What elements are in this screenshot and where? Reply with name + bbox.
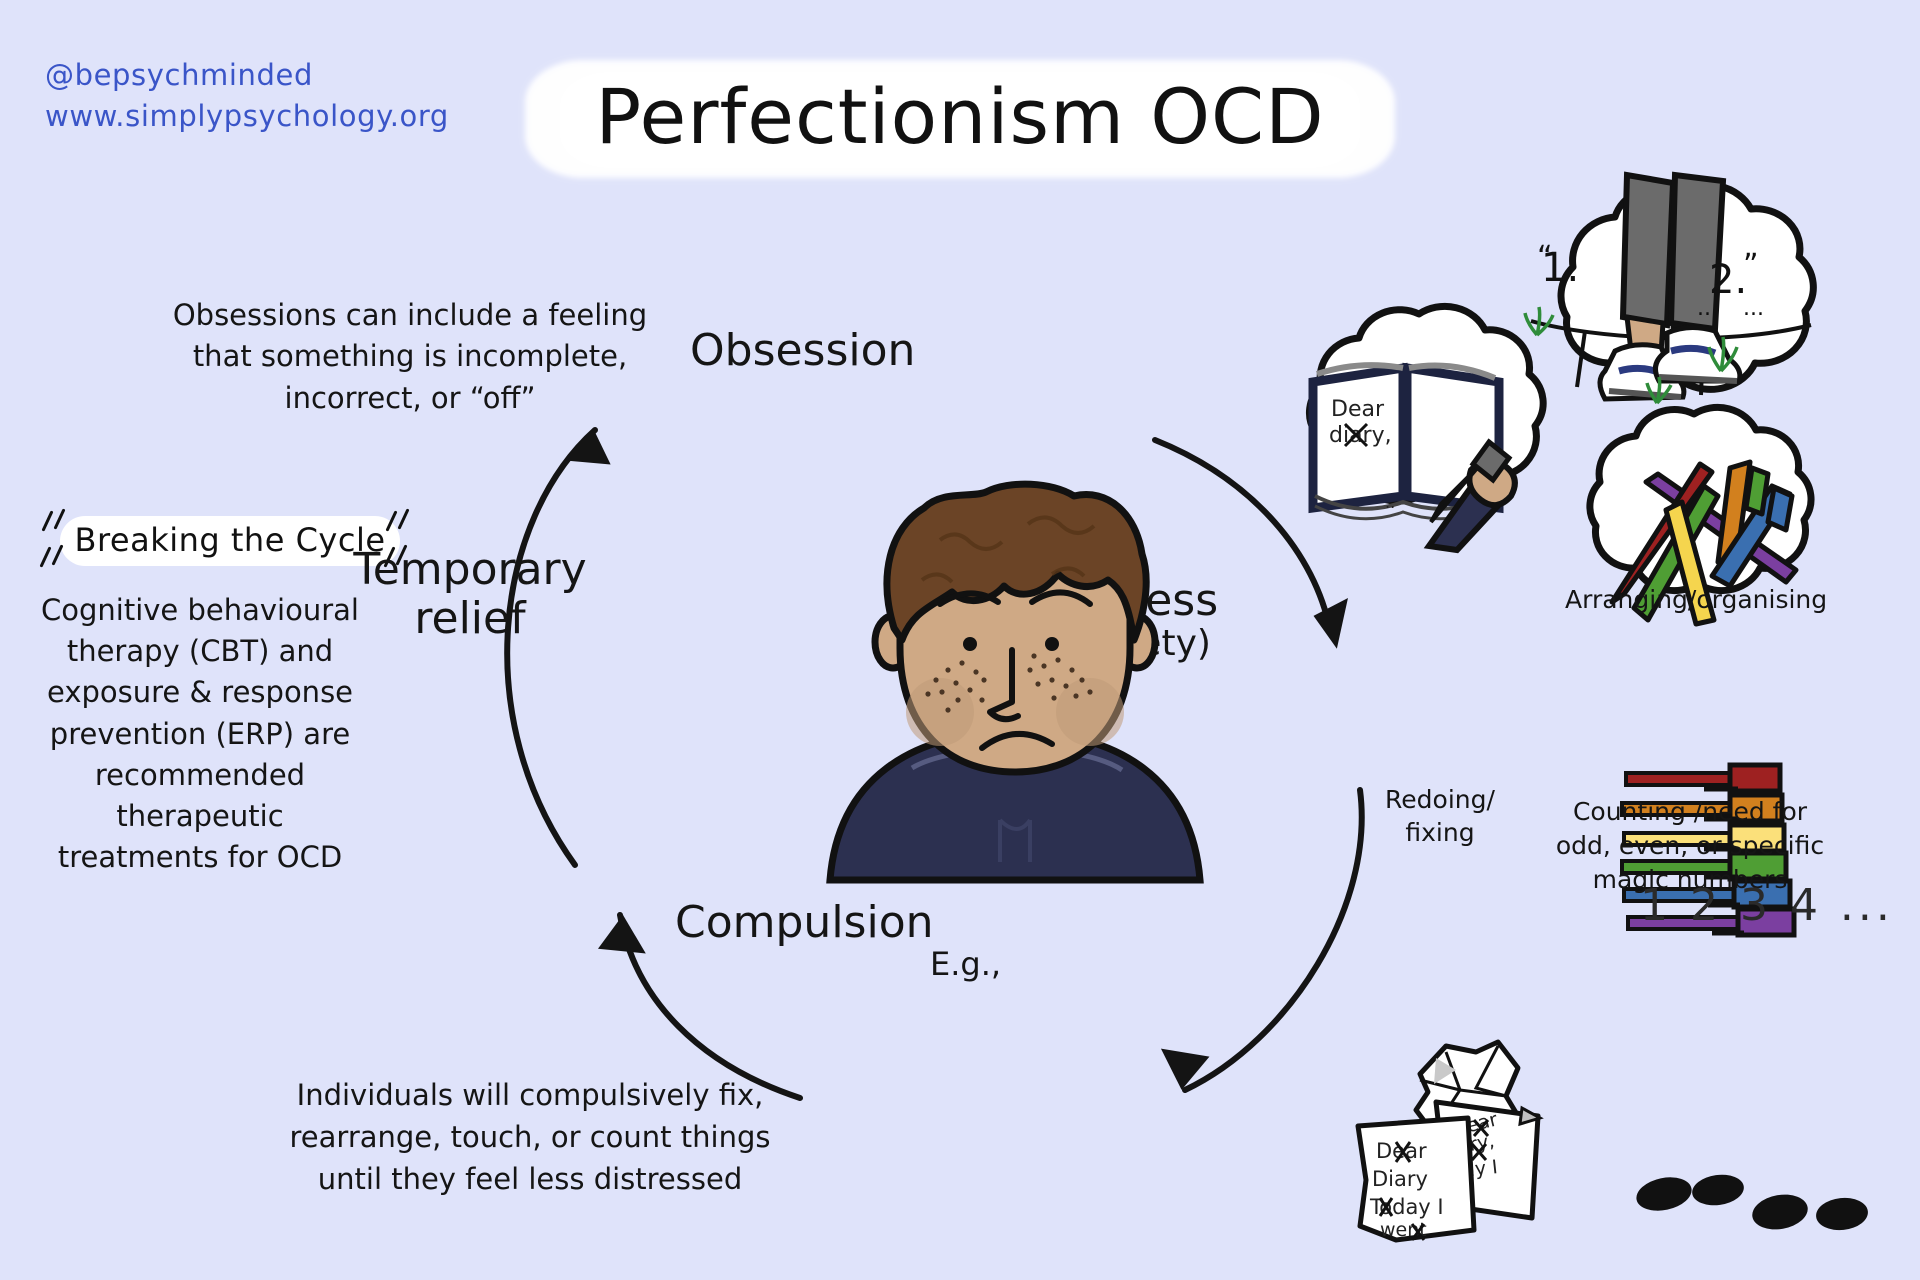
infographic-canvas: @bepsychminded www.simplypsychology.org … (0, 0, 1920, 1280)
quote-open: “ (1537, 240, 1553, 275)
crumpled-paper-illustration: Dear diary, Today I Dear Diary Today I w… (1350, 1040, 1570, 1260)
diary-line-2: diary, (1329, 423, 1392, 448)
ellipsis-left: ... (1697, 296, 1718, 321)
label-redoing-fixing: Redoing/ fixing (1370, 783, 1510, 849)
arrowhead-relief (598, 912, 651, 955)
trouser-left (1623, 175, 1673, 325)
quote-close: ” (1743, 248, 1759, 283)
footprints-illustration (1630, 1150, 1880, 1250)
cycle-label-obsession: Obsession (690, 325, 915, 376)
cycle-label-temporary-relief: Temporary relief (345, 545, 595, 644)
arrowhead-compulsion (1152, 1045, 1209, 1095)
front-line-2: Diary (1372, 1167, 1428, 1191)
counting-digits: 1 2 3 4 ... (1640, 880, 1894, 931)
ellipsis-right: ... (1743, 296, 1764, 321)
thought-bubble-diary: Dear diary, .. (1275, 290, 1565, 550)
eye-right (1045, 637, 1059, 651)
label-arranging-organising: Arranging/organising (1565, 585, 1827, 614)
diary-line-1: Dear (1331, 397, 1385, 422)
paper-sheet-front: Dear Diary Today I went (1358, 1118, 1474, 1241)
pen-row-red (1626, 765, 1780, 791)
cheek-left (906, 678, 974, 746)
footprint-group (1633, 1172, 1869, 1234)
cycle-label-compulsion: Compulsion (675, 897, 934, 948)
diary-ellipsis: .. (1385, 493, 1395, 512)
arrowhead-distress (1305, 588, 1360, 649)
arrow-path-relief-to-obsession (507, 430, 595, 865)
eye-left (963, 637, 977, 651)
person-illustration (790, 480, 1240, 880)
eg-label: E.g., (930, 945, 1001, 983)
